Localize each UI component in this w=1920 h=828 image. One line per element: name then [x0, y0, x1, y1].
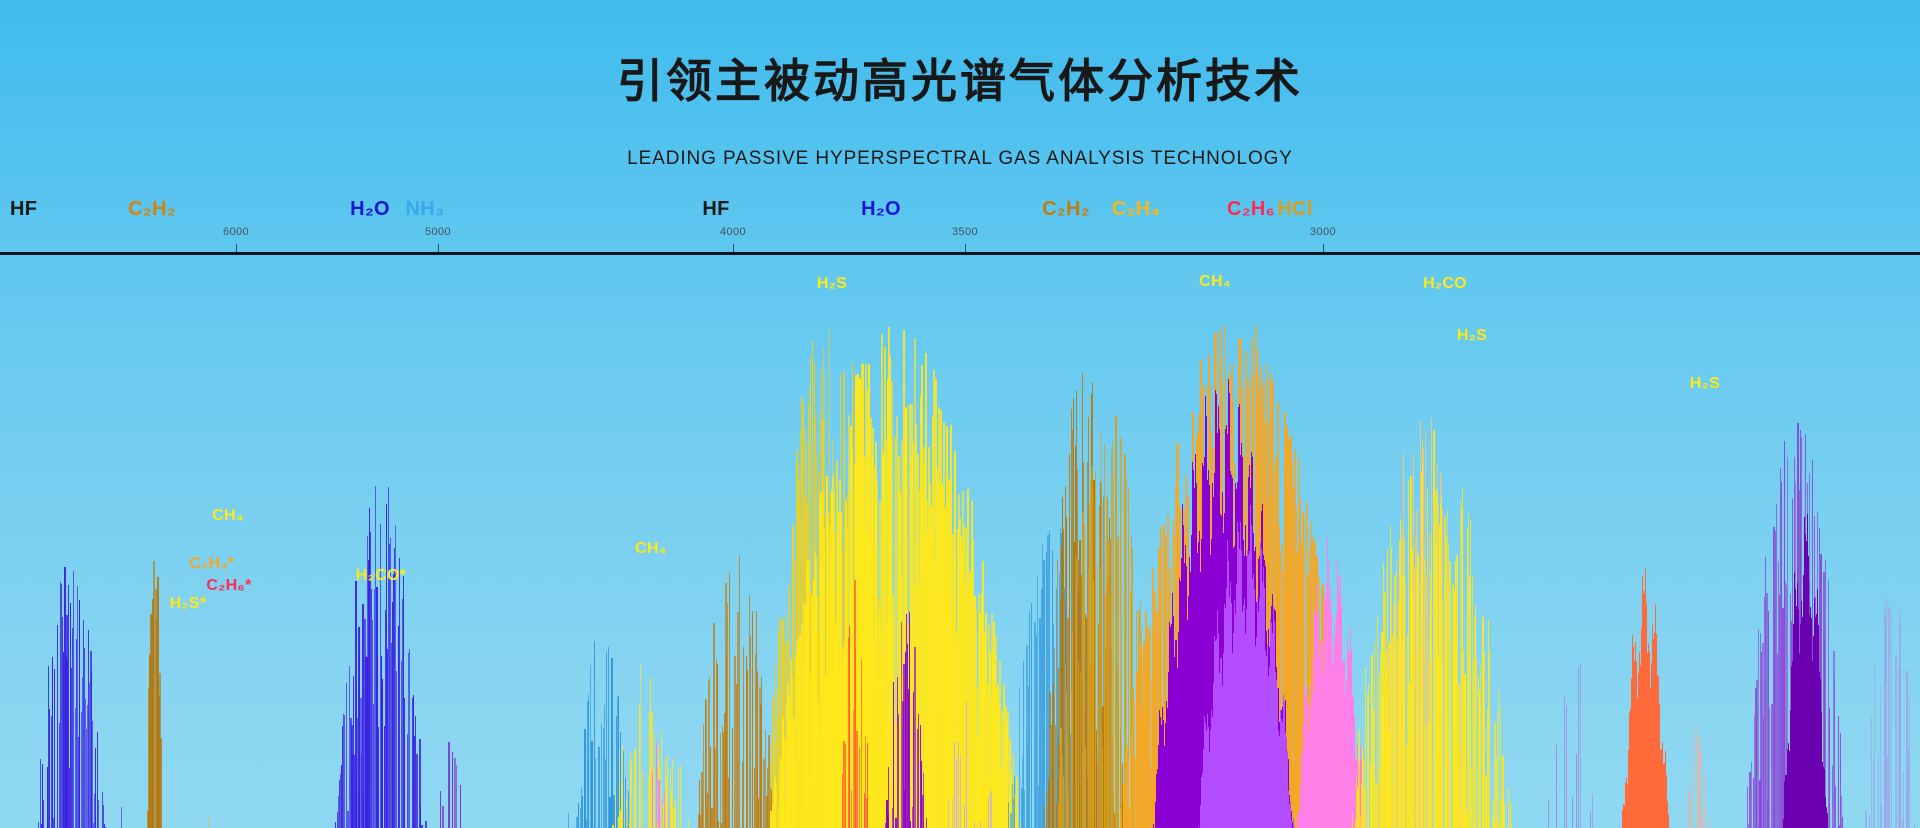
top-tick-label: 6000 — [223, 226, 249, 238]
top-axis-wavenumber: 60005000400035003000 HFC₂H₂H₂ONH₃HFH₂OC₂… — [0, 200, 1920, 255]
top-tick-label: 3000 — [1310, 226, 1336, 238]
top-species-hf: HF — [702, 198, 729, 221]
annotation-ch4: CH₄ — [212, 507, 244, 525]
page-subtitle: LEADING PASSIVE HYPERSPECTRAL GAS ANALYS… — [0, 148, 1920, 170]
annotation-h2s: H₂S — [1457, 327, 1487, 345]
spectrum-chart: 60005000400035003000 HFC₂H₂H₂ONH₃HFH₂OC₂… — [0, 200, 1920, 828]
annotation-h2s: H₂S — [1690, 375, 1720, 393]
top-species-hf: HF — [10, 198, 37, 221]
inner-annotations: CH₄C₂H₄*C₂H₆*H₂S*H₂CO*CH₄H₂SCH₄H₂COH₂SH₂… — [0, 255, 1920, 828]
top-tick-label: 3500 — [952, 226, 978, 238]
top-tick — [733, 244, 734, 252]
annotation-c2h6: C₂H₆* — [206, 577, 251, 595]
top-species-c2h2: C₂H₂ — [1042, 198, 1090, 221]
annotation-c2h4: C₂H₄* — [189, 555, 235, 573]
top-species-h2o: H₂O — [350, 198, 390, 221]
page-header: 引领主被动高光谱气体分析技术 LEADING PASSIVE HYPERSPEC… — [0, 0, 1920, 200]
annotation-ch4: CH₄ — [635, 540, 667, 558]
annotation-h2co: H₂CO* — [356, 567, 406, 585]
top-species-c2h4: C₂H₄ — [1112, 198, 1161, 221]
annotation-h2co: H₂CO — [1423, 275, 1467, 293]
top-tick-label: 5000 — [425, 226, 451, 238]
top-species-nh3: NH₃ — [405, 198, 444, 221]
top-tick — [965, 244, 966, 252]
page-title: 引领主被动高光谱气体分析技术 — [0, 56, 1920, 107]
top-species-c2h2: C₂H₂ — [128, 198, 176, 221]
top-tick-label: 4000 — [720, 226, 746, 238]
top-tick — [1323, 244, 1324, 252]
top-tick — [438, 244, 439, 252]
plot-area: CH₄C₂H₄*C₂H₆*H₂S*H₂CO*CH₄H₂SCH₄H₂COH₂SH₂… — [0, 255, 1920, 828]
top-species-h2o: H₂O — [861, 198, 901, 221]
annotation-h2s: H₂S* — [170, 595, 207, 613]
top-species-hcl: HCl — [1277, 198, 1312, 221]
annotation-h2s: H₂S — [817, 275, 847, 293]
annotation-ch4: CH₄ — [1199, 273, 1231, 291]
top-species-c2h6: C₂H₆ — [1227, 198, 1275, 221]
top-tick — [236, 244, 237, 252]
